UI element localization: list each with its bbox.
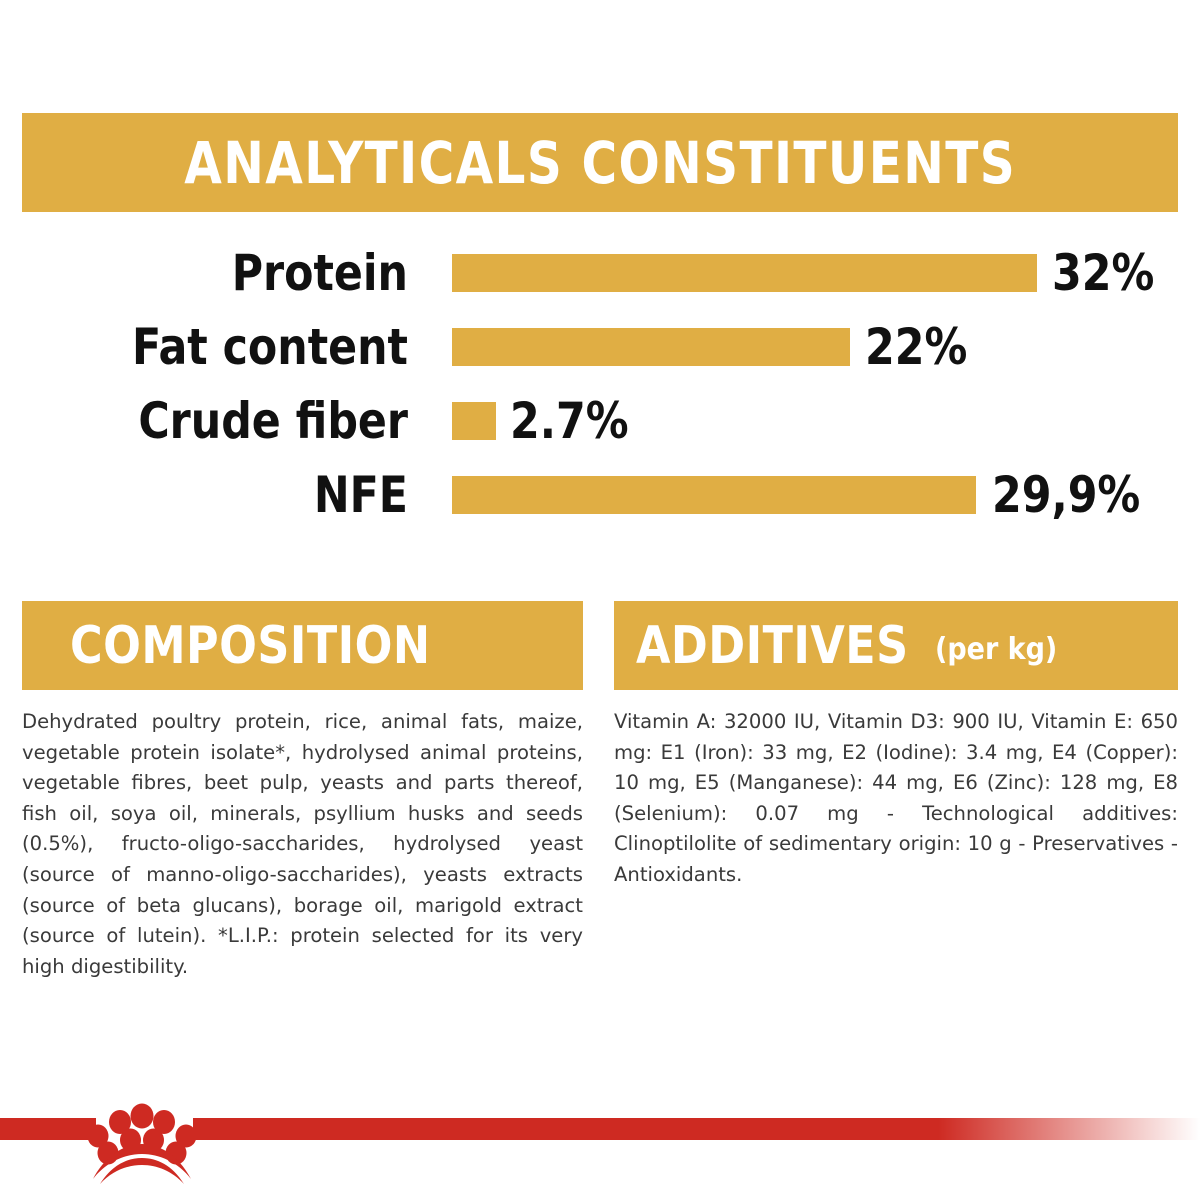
bar-fill-protein: [452, 254, 1037, 292]
chart-row-fat-content: Fat content 22%: [0, 317, 1200, 377]
composition-header: COMPOSITION: [22, 601, 583, 690]
bar-label-protein: Protein: [49, 243, 408, 303]
chart-row-protein: Protein 32%: [0, 243, 1200, 303]
nutrition-label-page: ANALYTICALS CONSTITUENTS Protein 32% Fat…: [0, 0, 1200, 1200]
bar-track-fat-content: [452, 328, 850, 366]
bar-fill-fat-content: [452, 328, 850, 366]
additives-heading-suffix: (per kg): [935, 635, 1057, 665]
bar-value-protein: 32%: [1052, 243, 1154, 303]
bar-value-fat-content: 22%: [865, 317, 967, 377]
chart-row-crude-fiber: Crude fiber 2.7%: [0, 391, 1200, 451]
page-title: ANALYTICALS CONSTITUENTS: [184, 134, 1016, 192]
bar-label-crude-fiber: Crude fiber: [49, 391, 408, 451]
bar-label-fat-content: Fat content: [49, 317, 408, 377]
additives-header: ADDITIVES (per kg): [614, 601, 1178, 690]
bar-value-crude-fiber: 2.7%: [510, 391, 629, 451]
bar-fill-nfe: [452, 476, 976, 514]
composition-panel: COMPOSITION Dehydrated poultry protein, …: [22, 601, 583, 982]
analyticals-constituents-banner: ANALYTICALS CONSTITUENTS: [22, 113, 1178, 212]
detail-panels: COMPOSITION Dehydrated poultry protein, …: [0, 601, 1200, 1021]
composition-heading: COMPOSITION: [70, 620, 431, 672]
royal-canin-crown-icon: [84, 1092, 200, 1184]
composition-text: Dehydrated poultry protein, rice, animal…: [22, 690, 583, 982]
footer-rule-left: [0, 1118, 96, 1140]
chart-row-nfe: NFE 29,9%: [0, 465, 1200, 525]
additives-panel: ADDITIVES (per kg) Vitamin A: 32000 IU, …: [614, 601, 1178, 891]
bar-value-nfe: 29,9%: [992, 465, 1140, 525]
bar-track-crude-fiber: [452, 402, 496, 440]
bar-track-protein: [452, 254, 1037, 292]
footer-rule-right: [193, 1118, 1200, 1140]
bar-label-nfe: NFE: [49, 465, 408, 525]
additives-heading: ADDITIVES: [636, 620, 909, 672]
bar-track-nfe: [452, 476, 976, 514]
analytical-constituents-chart: Protein 32% Fat content 22% Crude fiber …: [0, 243, 1200, 535]
brand-footer: [0, 1118, 1200, 1152]
bar-fill-crude-fiber: [452, 402, 496, 440]
additives-text: Vitamin A: 32000 IU, Vitamin D3: 900 IU,…: [614, 690, 1178, 891]
